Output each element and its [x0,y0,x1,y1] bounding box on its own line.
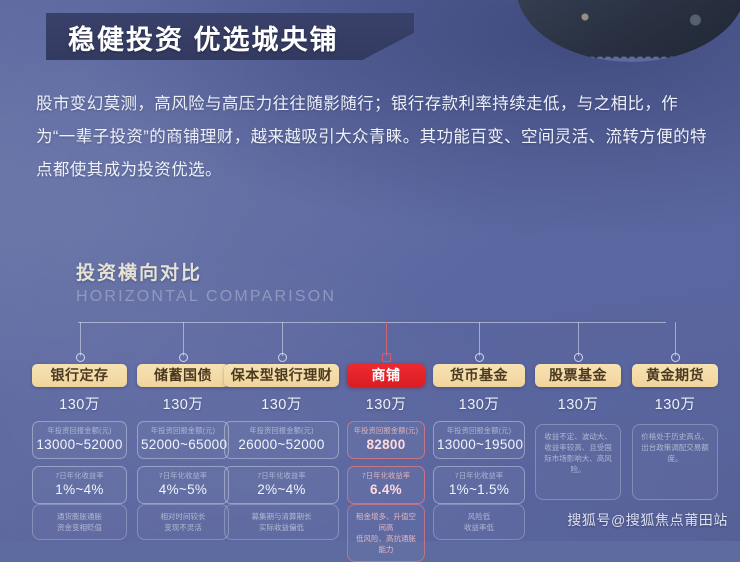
section-heading: 投资横向对比 HORIZONTAL COMPARISON [76,258,336,306]
note-line: 收益率低 [439,522,519,533]
cell-label: 7日年化收益率 [143,471,224,481]
column-note: 通货膨胀通胀资金变相贬值 [32,504,127,540]
comparison-column[interactable]: 货币基金130万年投资回报金额(元)13000~195007日年化收益率1%~1… [433,364,525,540]
comparison-column[interactable]: 保本型银行理财130万年投资回报金额(元)26000~520007日年化收益率2… [224,364,339,540]
column-note: 收益不定、波动大、收益率较高、且受国际市场影响大、高风险。 [535,424,621,500]
timeline-dot-icon [179,353,188,362]
column-name-pill[interactable]: 储蓄国债 [137,364,229,387]
cell-label: 7日年化收益率 [439,471,520,481]
section-title-cn: 投资横向对比 [76,258,336,285]
cell-value: 13000~19500 [437,437,521,453]
cell-value: 1%~4% [36,482,123,498]
column-note: 募集期与清算期长实际收益偏低 [224,504,339,540]
cell-label: 年投资回报金额(元) [230,426,333,436]
annualized-rate-cell: 7日年化收益率6.4% [347,466,425,504]
note-line: 募集期与清算期长 [230,511,333,522]
cell-value: 82800 [351,437,421,453]
timeline-stem [282,322,283,356]
comparison-column[interactable]: 银行定存130万年投资回报金额(元)13000~520007日年化收益率1%~4… [32,364,127,540]
return-amount-cell: 年投资回报金额(元)82800 [347,421,425,459]
cell-value: 52000~65000 [141,437,225,453]
comparison-table: 银行定存130万年投资回报金额(元)13000~520007日年化收益率1%~4… [0,364,740,534]
note-line: 实际收益偏低 [230,522,333,533]
timeline-dot-icon [382,353,391,362]
timeline-dot-icon [475,353,484,362]
watermark: 搜狐号@搜狐焦点莆田站 [567,510,728,530]
cell-label: 7日年化收益率 [352,471,419,481]
return-amount-cell: 年投资回报金额(元)52000~65000 [137,421,229,459]
section-title-en: HORIZONTAL COMPARISON [76,288,336,306]
note-line: 通货膨胀通胀 [38,511,121,522]
annualized-rate-cell: 7日年化收益率2%~4% [224,466,339,504]
column-name-pill[interactable]: 保本型银行理财 [224,364,339,387]
timeline-stem [80,322,81,356]
comparison-column[interactable]: 股票基金130万收益不定、波动大、收益率较高、且受国际市场影响大、高风险。 [535,364,621,500]
column-note: 租金增多、升值空间高低风险、高抗通胀能力 [347,504,425,562]
timeline-stem [183,322,184,356]
note-line: 相对时间较长 [143,511,223,522]
cell-value: 26000~52000 [228,437,335,453]
timeline-stem [479,322,480,356]
comparison-column[interactable]: 储蓄国债130万年投资回报金额(元)52000~650007日年化收益率4%~5… [137,364,229,540]
comparison-timeline [0,322,740,368]
column-principal-amount: 130万 [535,393,621,414]
comparison-column[interactable]: 黄金期货130万价格处于历史高点、出台政策调配交易额度。 [632,364,718,500]
column-name-pill[interactable]: 货币基金 [433,364,525,387]
page-title: 稳健投资 优选城央铺 [68,18,339,57]
cell-value: 2%~4% [228,482,335,498]
return-amount-cell: 年投资回报金额(元)13000~19500 [433,421,525,459]
cell-value: 13000~52000 [36,437,123,453]
column-principal-amount: 130万 [224,393,339,414]
cell-label: 年投资回报金额(元) [143,426,224,436]
column-principal-amount: 130万 [347,393,425,414]
note-line: 租金增多、升值空间高 [353,511,419,533]
column-name-pill[interactable]: 商铺 [347,364,425,387]
column-name-pill[interactable]: 股票基金 [535,364,621,387]
comparison-column[interactable]: 商铺130万年投资回报金额(元)828007日年化收益率6.4%租金增多、升值空… [347,364,425,562]
timeline-stem [386,322,387,356]
column-note: 价格处于历史高点、出台政策调配交易额度。 [632,424,718,500]
cell-label: 7日年化收益率 [38,471,122,481]
timeline-stem [675,322,676,356]
return-amount-cell: 年投资回报金额(元)13000~52000 [32,421,127,459]
column-principal-amount: 130万 [632,393,718,414]
note-line: 变现不灵活 [143,522,223,533]
column-name-pill[interactable]: 黄金期货 [632,364,718,387]
note-line: 资金变相贬值 [38,522,121,533]
cell-value: 1%~1.5% [437,482,521,498]
intro-paragraph: 股市变幻莫测，高风险与高压力往往随影随行；银行存款利率持续走低，与之相比，作为“… [36,88,708,187]
annualized-rate-cell: 7日年化收益率1%~1.5% [433,466,525,504]
column-principal-amount: 130万 [137,393,229,414]
cell-value: 6.4% [351,482,421,498]
return-amount-cell: 年投资回报金额(元)26000~52000 [224,421,339,459]
aerial-photo [516,0,740,62]
cell-label: 年投资回报金额(元) [439,426,520,436]
cell-label: 年投资回报金额(元) [352,426,419,436]
note-line: 低风险、高抗通胀能力 [353,533,419,555]
cell-value: 4%~5% [141,482,225,498]
annualized-rate-cell: 7日年化收益率4%~5% [137,466,229,504]
photo-scallop-edge [516,52,740,62]
annualized-rate-cell: 7日年化收益率1%~4% [32,466,127,504]
note-line: 风险低 [439,511,519,522]
timeline-dot-icon [76,353,85,362]
timeline-dot-icon [574,353,583,362]
column-principal-amount: 130万 [32,393,127,414]
cell-label: 7日年化收益率 [230,471,333,481]
column-note: 相对时间较长变现不灵活 [137,504,229,540]
timeline-stem [578,322,579,356]
cell-label: 年投资回报金额(元) [38,426,122,436]
note-line: 价格处于历史高点、出台政策调配交易额度。 [638,431,712,464]
column-note: 风险低收益率低 [433,504,525,540]
column-name-pill[interactable]: 银行定存 [32,364,127,387]
timeline-dot-icon [671,353,680,362]
column-principal-amount: 130万 [433,393,525,414]
note-line: 收益不定、波动大、收益率较高、且受国际市场影响大、高风险。 [541,431,615,475]
timeline-dot-icon [278,353,287,362]
